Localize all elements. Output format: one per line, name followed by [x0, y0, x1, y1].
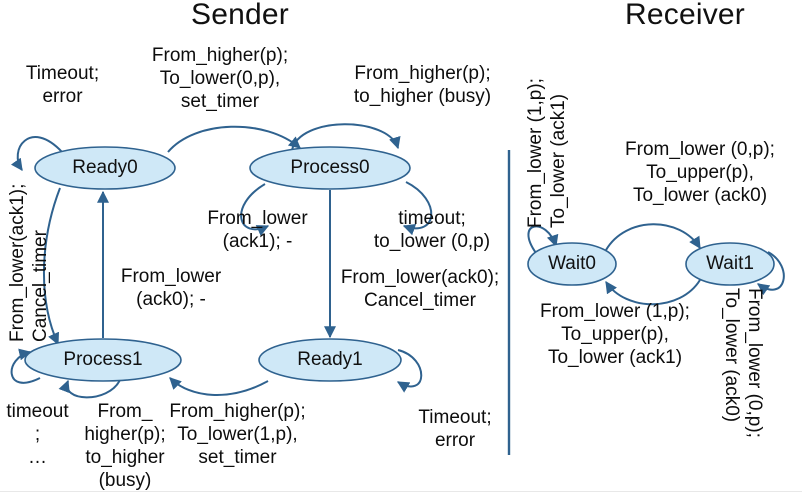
label-ready1-to-process1: From_higher(p); To_lower(1,p), set_timer: [155, 400, 320, 469]
label-process1-self-left: timeout ; …: [0, 400, 75, 469]
label-process1-to-ready0: From_lower (ack0); -: [96, 265, 246, 311]
edge-wait0-to-wait1: [606, 224, 700, 250]
edge-ready0-to-process0: [168, 127, 300, 152]
label-ready1-self: Timeout; error: [400, 406, 510, 452]
label-ready0-self: Timeout; error: [0, 62, 125, 108]
edge-ready1-self: [398, 350, 421, 386]
state-label-ready1: Ready1: [297, 349, 363, 371]
state-label-process0: Process0: [290, 157, 369, 179]
label-process0-to-ready1: From_lower(ack0); Cancel_timer: [325, 266, 515, 312]
edge-process0-self-top: [292, 124, 398, 150]
label-process0-self-top: From_higher(p); to_higher (busy): [330, 62, 515, 108]
sender-title: Sender: [140, 0, 340, 32]
label-ready0-to-process0: From_higher(p); To_lower(0,p), set_timer: [130, 44, 310, 113]
edge-ready1-to-process1: [170, 378, 268, 395]
state-label-ready0: Ready0: [72, 157, 138, 179]
label-process0-self-left: From_lower (ack1); -: [185, 207, 330, 253]
label-ready0-to-process1: From_lower(ack1); Cancel_timer: [6, 152, 52, 342]
label-wait0-to-wait1: From_lower (0,p); To_upper(p), To_lower …: [600, 138, 800, 207]
state-label-process1: Process1: [63, 349, 142, 371]
bottom-strip: [0, 491, 802, 501]
label-process0-self-right: timeout; to_lower (0,p): [352, 207, 512, 253]
label-wait1-self: From_lower (0,p); To_lower (ack0): [720, 288, 766, 478]
label-wait1-to-wait0: From_lower (1,p); To_upper(p), To_lower …: [515, 300, 715, 369]
state-label-wait1: Wait1: [706, 253, 754, 275]
state-label-wait0: Wait0: [548, 253, 596, 275]
receiver-title: Receiver: [585, 0, 785, 32]
edge-process1-self-mid: [67, 380, 120, 397]
diagram-canvas: Sender Receiver Ready0 Process0 Process1…: [0, 0, 802, 501]
label-wait0-self: From_lower (1,p); To_lower (ack1): [524, 38, 570, 228]
